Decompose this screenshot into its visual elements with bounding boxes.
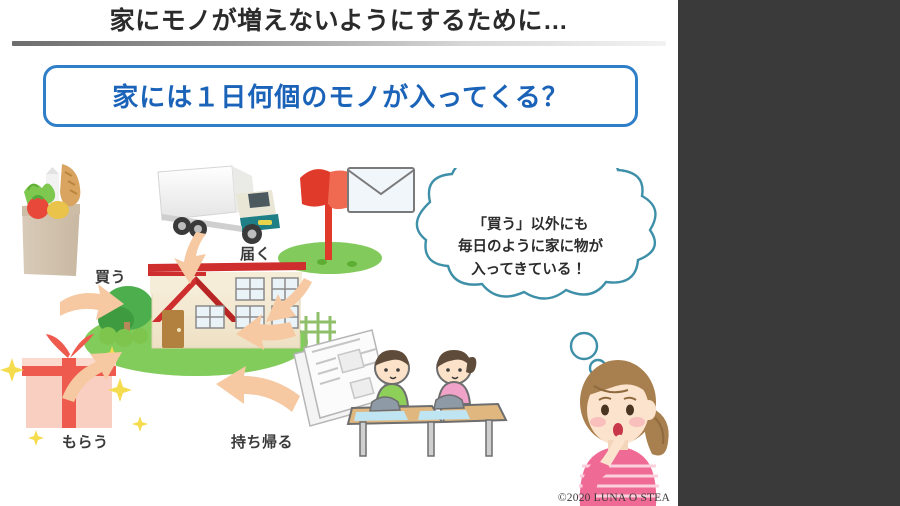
question-text: 家には１日何個のモノが入ってくる？ xyxy=(46,68,635,124)
screen-root: 家にモノが増えないようにするために… 家には１日何個のモノが入ってくる？ xyxy=(0,0,900,506)
delivery-truck-icon xyxy=(158,166,280,244)
label-bring-home: 持ち帰る xyxy=(231,431,293,452)
slide-title-area: 家にモノが増えないようにするために… xyxy=(0,4,678,44)
grocery-bag-icon xyxy=(22,164,80,276)
thought-bubble: 「買う」以外にも 毎日のように家に物が 入ってきている ！ xyxy=(378,168,678,328)
copyright-notice: ©2020 LUNA O STEA xyxy=(558,492,670,504)
presentation-slide: 家にモノが増えないようにするために… 家には１日何個のモノが入ってくる？ xyxy=(0,0,678,506)
label-delivered: 届く xyxy=(240,243,271,264)
video-panel: STAFF STAFF xyxy=(678,0,900,506)
title-underline-rule xyxy=(12,41,666,46)
thinking-woman-illustration xyxy=(560,352,678,506)
question-callout-box: 家には１日何個のモノが入ってくる？ xyxy=(43,65,638,127)
page-title: 家にモノが増えないようにするために… xyxy=(0,4,678,38)
label-receive: もらう xyxy=(62,431,109,452)
label-buy: 買う xyxy=(95,266,126,287)
thought-bubble-text: 「買う」以外にも 毎日のように家に物が 入ってきている ！ xyxy=(418,214,643,281)
